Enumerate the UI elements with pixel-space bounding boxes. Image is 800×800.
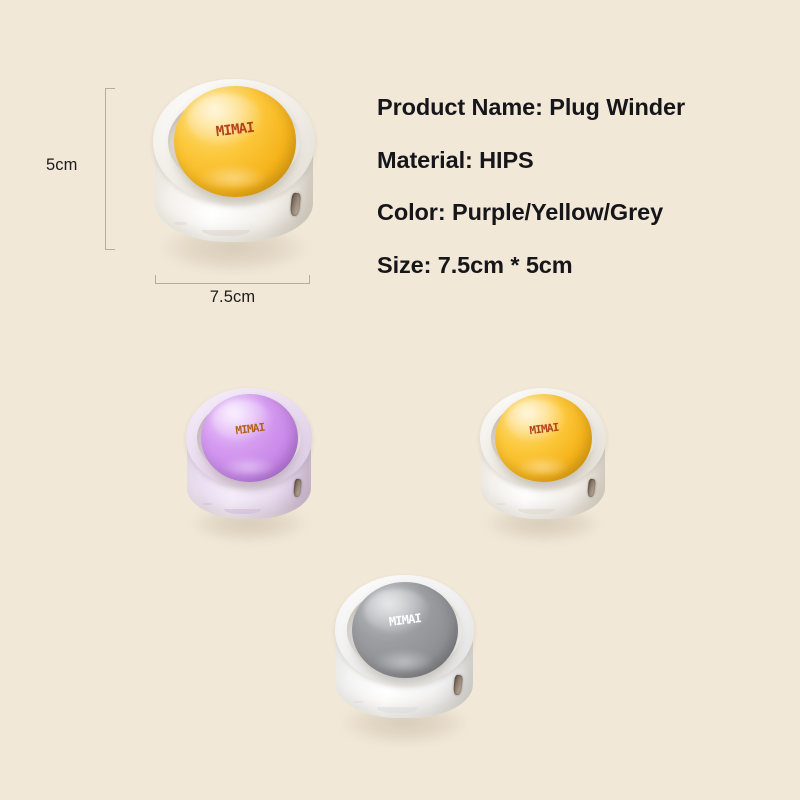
dome-button[interactable]: MIMAI — [495, 394, 591, 482]
spec-size: Size: 7.5cm * 5cm — [377, 254, 777, 278]
product-variant-grey: MIMAI — [332, 572, 477, 738]
dome-bounce-light — [198, 164, 269, 188]
height-dimension-line — [105, 88, 115, 250]
dome-button[interactable]: MIMAI — [174, 86, 297, 196]
spec-list: Product Name: Plug Winder Material: HIPS… — [377, 96, 777, 306]
height-dimension-label: 5cm — [46, 156, 77, 175]
base-foot — [518, 509, 555, 514]
product-infographic: 5cm 7.5cm MIMAI Product Name: Plug Winde… — [0, 0, 800, 800]
dome-button[interactable]: MIMAI — [352, 582, 458, 678]
product-variant-yellow: MIMAI — [477, 385, 609, 537]
cord-slot — [453, 675, 463, 696]
base-foot — [377, 707, 418, 713]
base-nub — [174, 222, 187, 225]
spec-color: Color: Purple/Yellow/Grey — [377, 201, 777, 225]
product-variant-purple: MIMAI — [183, 385, 315, 537]
base-foot — [224, 509, 261, 514]
base-nub — [496, 503, 506, 505]
base-foot — [202, 230, 249, 236]
dome-bounce-light — [515, 456, 571, 475]
spec-material: Material: HIPS — [377, 149, 777, 173]
width-dimension-line — [155, 275, 310, 284]
width-dimension-label: 7.5cm — [155, 288, 310, 307]
dome-bounce-light — [373, 649, 434, 670]
base-nub — [202, 503, 212, 505]
dome-bounce-light — [221, 456, 277, 475]
spec-product-name: Product Name: Plug Winder — [377, 96, 777, 120]
product-hero-yellow: MIMAI — [150, 75, 318, 265]
base-nub — [353, 701, 364, 704]
dome-button[interactable]: MIMAI — [201, 394, 297, 482]
